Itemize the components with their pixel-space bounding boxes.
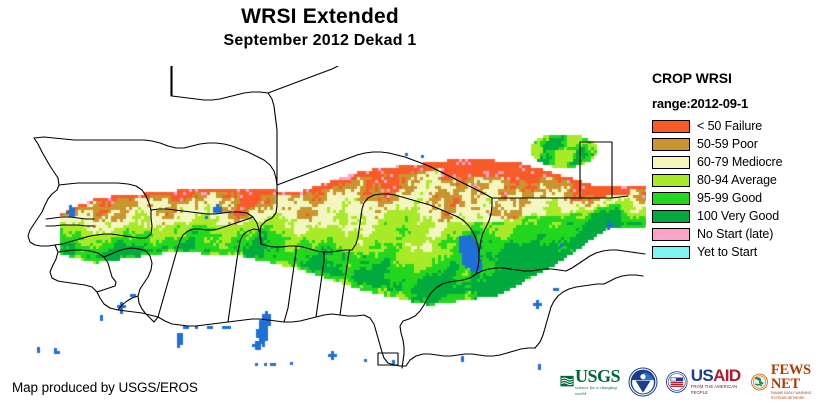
- usaid-seal-icon: [666, 369, 688, 395]
- map-page: WRSI Extended September 2012 Dekad 1: [0, 0, 816, 403]
- legend-item-label: 100 Very Good: [697, 209, 779, 223]
- legend-item: 100 Very Good: [650, 207, 816, 225]
- legend-color-swatch: [652, 174, 690, 187]
- legend-color-swatch: [652, 228, 690, 241]
- usgs-logo-text: USGS: [575, 368, 622, 385]
- noaa-seal-icon: [628, 367, 658, 397]
- page-title: WRSI Extended: [0, 4, 640, 30]
- usgs-wave-icon: [560, 374, 574, 390]
- legend-color-swatch: [652, 138, 690, 151]
- map-canvas-area[interactable]: [0, 66, 646, 372]
- legend-color-swatch: [652, 192, 690, 205]
- legend-item-label: 50-59 Poor: [697, 137, 758, 151]
- noaa-logo[interactable]: [628, 365, 658, 399]
- fews-logo-text: FEWS NET: [771, 363, 816, 391]
- legend-color-swatch: [652, 120, 690, 133]
- fews-logo-tagline: FAMINE EARLY WARNING SYSTEMS NETWORK: [771, 391, 816, 401]
- legend-item-label: < 50 Failure: [697, 119, 762, 133]
- map-credit: Map produced by USGS/EROS: [12, 380, 198, 396]
- legend-item: < 50 Failure: [650, 117, 816, 135]
- legend-item: 95-99 Good: [650, 189, 816, 207]
- title-block: WRSI Extended September 2012 Dekad 1: [0, 4, 640, 52]
- legend-item-label: 60-79 Mediocre: [697, 155, 782, 169]
- page-subtitle: September 2012 Dekad 1: [0, 30, 640, 52]
- legend-color-swatch: [652, 156, 690, 169]
- legend-color-swatch: [652, 246, 690, 259]
- usaid-logo-tagline: FROM THE AMERICAN PEOPLE: [691, 384, 745, 396]
- country-borders-layer: [0, 66, 646, 372]
- legend-date-range: range:2012-09-1: [652, 96, 816, 112]
- legend-item-label: 80-94 Average: [697, 173, 777, 187]
- country-border-paths: [28, 66, 645, 368]
- legend-item-label: No Start (late): [697, 227, 773, 241]
- usaid-logo-text: USAID: [691, 368, 745, 384]
- legend-item: No Start (late): [650, 225, 816, 243]
- legend-items: < 50 Failure50-59 Poor60-79 Mediocre80-9…: [650, 117, 816, 261]
- fews-globe-icon: [751, 369, 768, 395]
- legend-item: 80-94 Average: [650, 171, 816, 189]
- legend-color-swatch: [652, 210, 690, 223]
- usgs-logo[interactable]: USGS science for a changing world: [560, 365, 622, 399]
- legend-item: 60-79 Mediocre: [650, 153, 816, 171]
- legend-item: Yet to Start: [650, 243, 816, 261]
- usgs-logo-tagline: science for a changing world: [575, 385, 622, 397]
- usaid-logo[interactable]: USAID FROM THE AMERICAN PEOPLE: [666, 365, 745, 399]
- legend-heading: CROP WRSI: [652, 70, 816, 87]
- legend-item-label: 95-99 Good: [697, 191, 762, 205]
- legend-item-label: Yet to Start: [697, 245, 757, 259]
- legend-item: 50-59 Poor: [650, 135, 816, 153]
- agency-logos: USGS science for a changing world: [560, 362, 816, 402]
- fews-logo[interactable]: FEWS NET FAMINE EARLY WARNING SYSTEMS NE…: [751, 365, 816, 399]
- legend-panel: CROP WRSI range:2012-09-1 < 50 Failure50…: [650, 70, 816, 280]
